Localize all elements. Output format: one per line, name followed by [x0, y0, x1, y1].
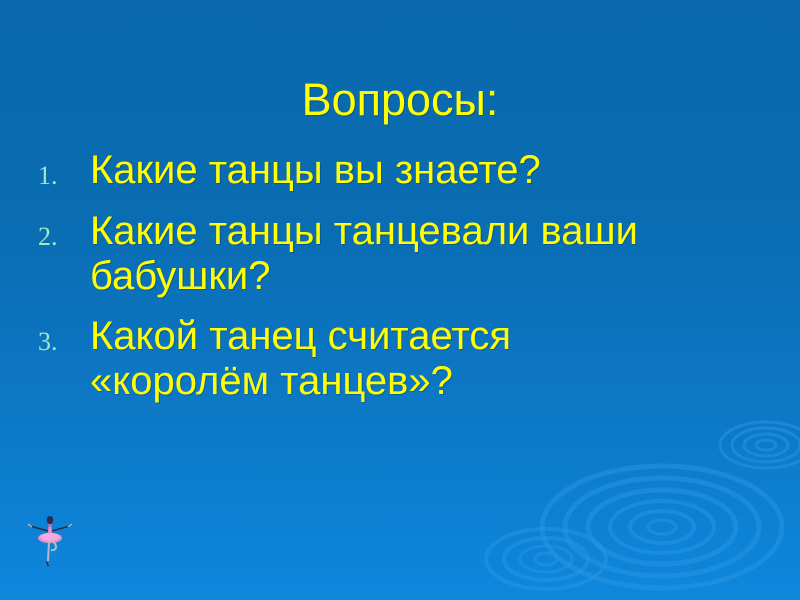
list-item: 3. Какой танец считается «королём танцев…: [30, 314, 730, 405]
list-item-marker: 3.: [30, 314, 90, 361]
list-item: 2. Какие танцы танцевали ваши бабушки?: [30, 209, 730, 300]
list-item: 1. Какие танцы вы знаете?: [30, 148, 730, 195]
water-ripple-icon-medium: [486, 529, 606, 589]
list-item-marker: 1.: [30, 148, 90, 195]
question-list: 1. Какие танцы вы знаете? 2. Какие танцы…: [30, 148, 730, 419]
slide-title: Вопросы:: [0, 76, 800, 125]
water-ripple-icon-small: [720, 422, 800, 468]
presentation-slide: Вопросы: 1. Какие танцы вы знаете? 2. Ка…: [0, 0, 800, 600]
ballerina-icon: [27, 509, 73, 567]
list-item-label: Какие танцы танцевали ваши бабушки?: [90, 209, 690, 300]
list-item-label: Какой танец считается «королём танцев»?: [90, 314, 690, 405]
water-ripple-icon-large: [542, 466, 782, 588]
list-item-label: Какие танцы вы знаете?: [90, 148, 690, 194]
list-item-marker: 2.: [30, 209, 90, 256]
